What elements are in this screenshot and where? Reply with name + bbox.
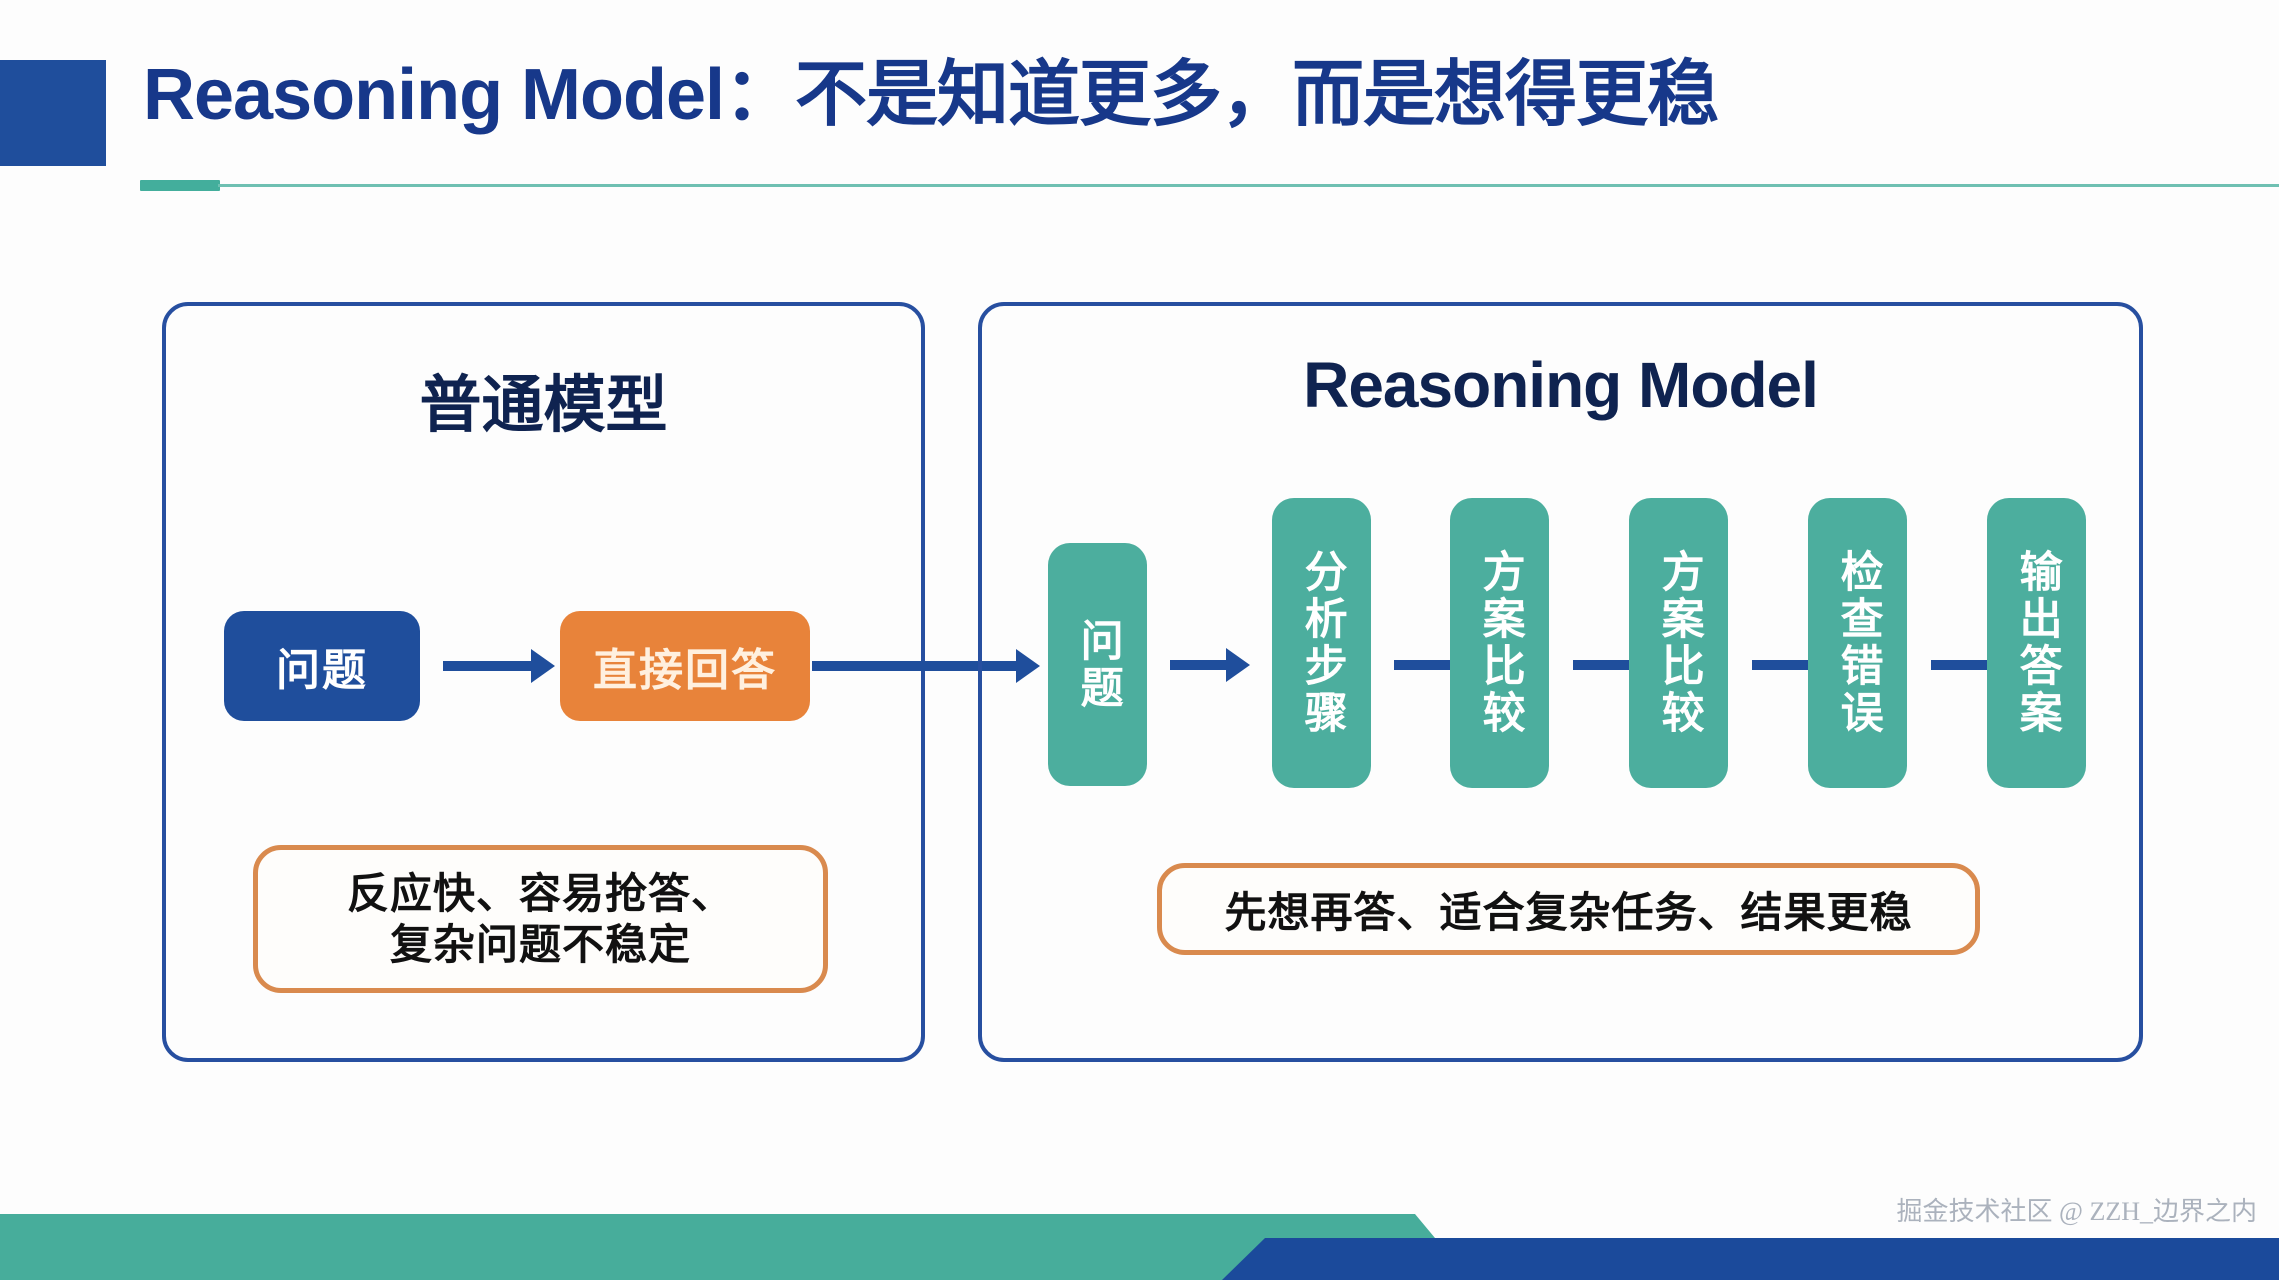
caption-ordinary-model: 反应快、容易抢答、 复杂问题不稳定 <box>253 845 828 993</box>
chain-box-check-errors[interactable]: 检查错误 <box>1808 498 1907 788</box>
chain-box-compare-options-1-label: 方案比较 <box>1477 549 1522 737</box>
title-accent-square <box>0 60 106 166</box>
title-underline-rule <box>218 184 2279 187</box>
arrow-chain-1 <box>1170 660 1230 670</box>
arrow-chain-2 <box>1394 660 1454 670</box>
chain-box-compare-options-2-label: 方案比较 <box>1656 549 1701 737</box>
flow-box-direct-answer[interactable]: 直接回答 <box>560 611 810 721</box>
arrow-chain-5 <box>1931 660 1991 670</box>
arrow-chain-4 <box>1752 660 1812 670</box>
chain-box-output-answer-label: 输出答案 <box>2014 549 2059 737</box>
chain-box-compare-options-2[interactable]: 方案比较 <box>1629 498 1728 788</box>
chain-box-compare-options-1[interactable]: 方案比较 <box>1450 498 1549 788</box>
arrow-chain-3 <box>1573 660 1633 670</box>
caption-ordinary-line-2: 复杂问题不稳定 <box>347 919 734 970</box>
chain-box-question[interactable]: 问题 <box>1048 543 1147 786</box>
caption-ordinary-line-1: 反应快、容易抢答、 <box>347 868 734 919</box>
chain-box-question-label: 问题 <box>1075 618 1120 712</box>
chain-box-analyze-steps[interactable]: 分析步骤 <box>1272 498 1371 788</box>
flow-box-question-ordinary[interactable]: 问题 <box>224 611 420 721</box>
chain-box-analyze-steps-label: 分析步骤 <box>1299 549 1344 737</box>
arrow-question-to-answer <box>443 661 535 671</box>
watermark: 掘金技术社区 @ ZZH_边界之内 <box>1897 1191 2257 1228</box>
panel-reasoning-heading: Reasoning Model <box>982 348 2139 422</box>
chain-box-output-answer[interactable]: 输出答案 <box>1987 498 2086 788</box>
panel-ordinary-heading: 普通模型 <box>166 354 921 444</box>
page-title: Reasoning Model：不是知道更多，而是想得更稳 <box>143 40 2043 150</box>
chain-box-check-errors-label: 检查错误 <box>1835 549 1880 737</box>
caption-reasoning-model: 先想再答、适合复杂任务、结果更稳 <box>1157 863 1980 955</box>
title-underline-accent <box>140 180 220 191</box>
